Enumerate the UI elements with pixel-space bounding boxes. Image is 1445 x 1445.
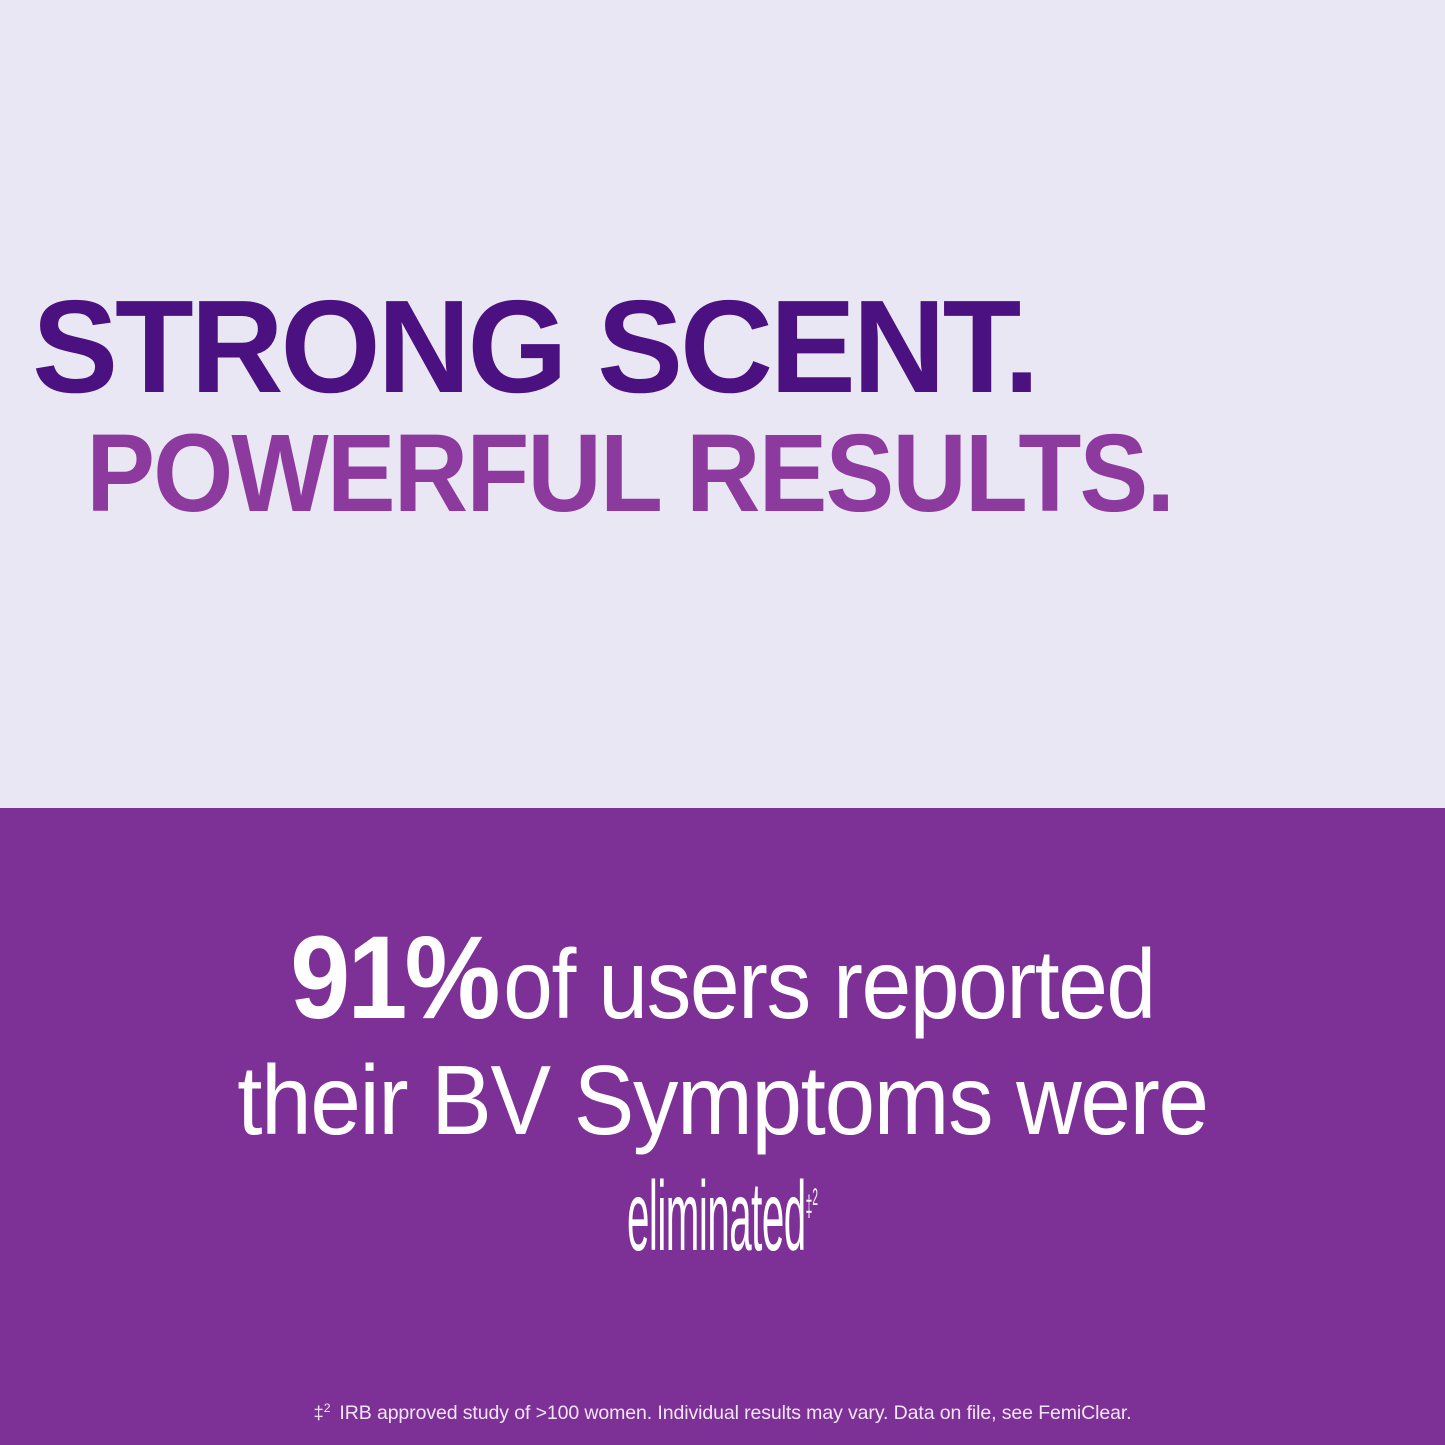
claim-line-3-text: eliminated [627,1161,806,1271]
claim-line-2: their BV Symptoms were [136,1042,1308,1158]
claim-block: 91%of users reported their BV Symptoms w… [0,920,1445,1274]
footnote-text: IRB approved study of >100 women. Indivi… [339,1402,1131,1424]
claim-line-3: eliminated‡2 [462,1158,982,1274]
stat-percentage: 91% [290,912,497,1044]
claim-line-1-text: of users reported [503,929,1155,1039]
headline-line-powerful-results: POWERFUL RESULTS. [0,408,1173,526]
double-dagger-icon: ‡2 [806,1190,818,1223]
product-claim-ad: STRONG SCENT. POWERFUL RESULTS. 91%of us… [0,0,1445,1445]
footnote-dagger-glyph: ‡ [314,1402,324,1423]
headline-line-strong-scent: STRONG SCENT. [0,286,1037,408]
claim-line-1: 91%of users reported [145,920,1300,1042]
footnote: ‡2IRB approved study of >100 women. Indi… [0,1395,1445,1426]
double-dagger-number: 2 [812,1185,818,1212]
footnote-marker-number: 2 [324,1401,331,1415]
footnote-marker-icon: ‡2 [314,1402,331,1423]
headline-block: STRONG SCENT. POWERFUL RESULTS. [0,286,1445,526]
claim-panel: 91%of users reported their BV Symptoms w… [0,808,1445,1445]
headline-panel: STRONG SCENT. POWERFUL RESULTS. [0,0,1445,808]
